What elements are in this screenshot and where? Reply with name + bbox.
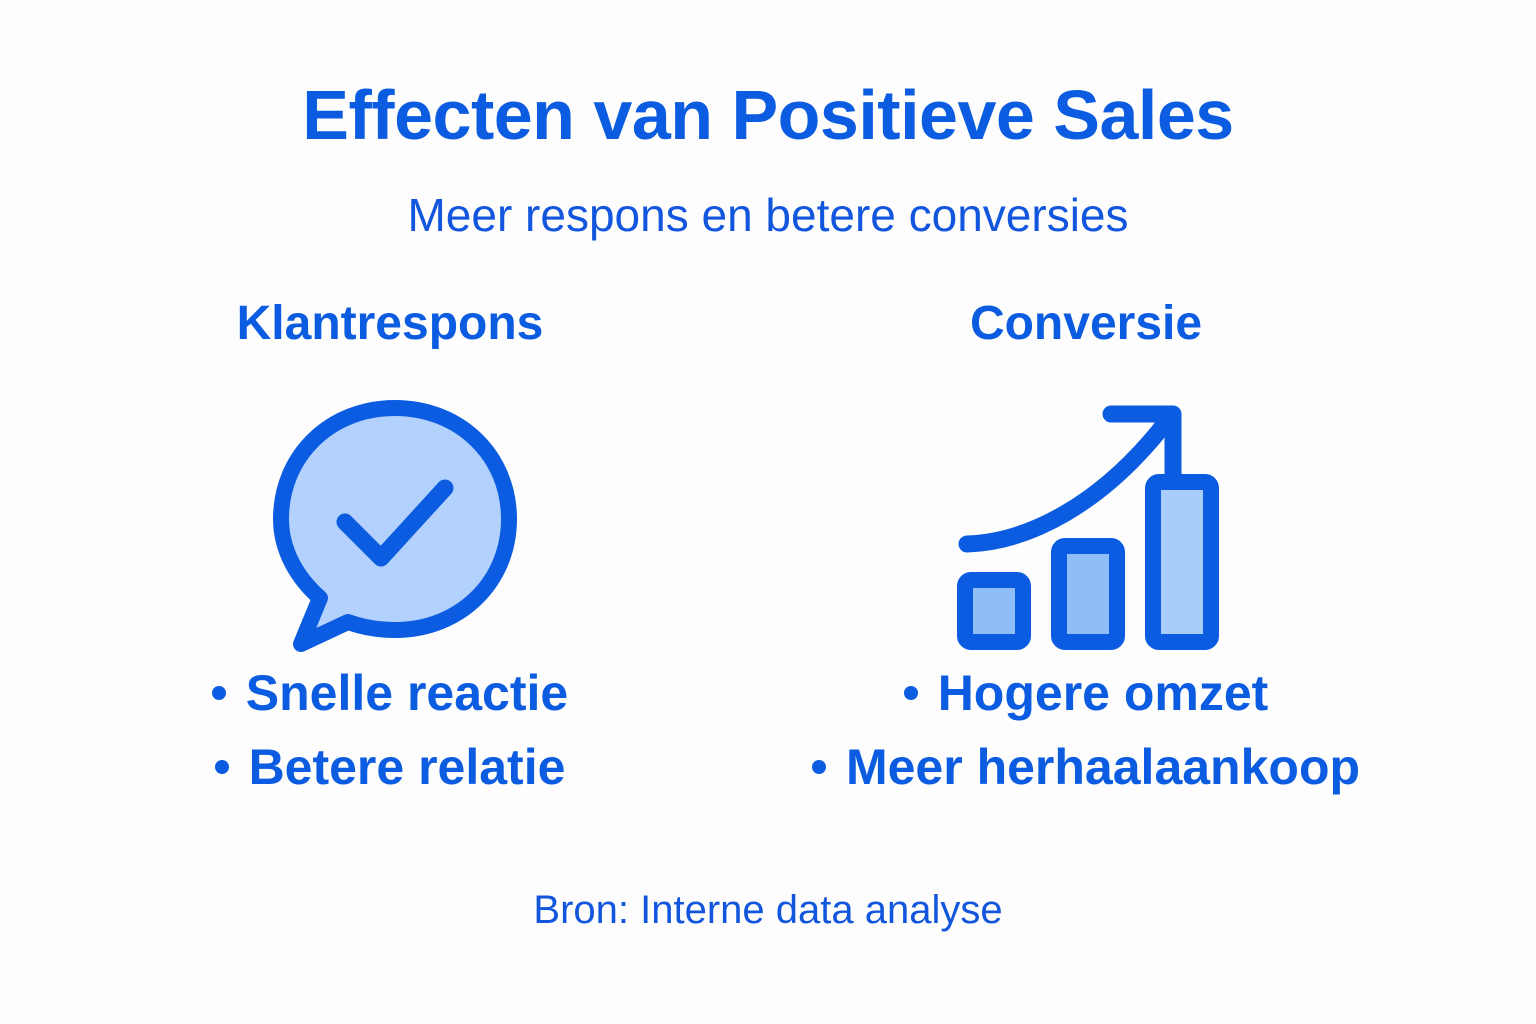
speech-bubble-check-icon	[259, 394, 521, 656]
bullet-dot-icon	[215, 760, 229, 774]
page-title: Effecten van Positieve Sales	[0, 80, 1536, 150]
list-item: Meer herhaalaankoop	[756, 730, 1416, 804]
infographic-canvas: Effecten van Positieve Sales Meer respon…	[0, 0, 1536, 1024]
bullet-dot-icon	[812, 760, 826, 774]
column-klantrespons: Klantrespons Snelle reactie Betere relat…	[60, 300, 720, 804]
bar-large	[1153, 482, 1211, 642]
icon-container-right	[756, 366, 1416, 656]
bullet-label: Hogere omzet	[938, 665, 1269, 721]
icon-container-left	[60, 366, 720, 656]
column-heading-right: Conversie	[756, 300, 1416, 360]
bar-small	[965, 580, 1023, 642]
source-caption: Bron: Interne data analyse	[0, 888, 1536, 933]
bullet-dot-icon	[904, 686, 918, 700]
bullet-label: Betere relatie	[249, 739, 566, 795]
list-item: Snelle reactie	[60, 656, 720, 730]
column-conversie: Conversie Hogere omzet Meer herhaalaanko…	[756, 300, 1416, 804]
bar-medium	[1059, 546, 1117, 642]
column-heading-left: Klantrespons	[60, 300, 720, 360]
bullet-label: Snelle reactie	[246, 665, 568, 721]
bullet-label: Meer herhaalaankoop	[846, 739, 1360, 795]
bullet-list-left: Snelle reactie Betere relatie	[60, 656, 720, 804]
list-item: Betere relatie	[60, 730, 720, 804]
bullet-list-right: Hogere omzet Meer herhaalaankoop	[756, 656, 1416, 804]
growth-bar-chart-arrow-icon	[951, 394, 1221, 656]
list-item: Hogere omzet	[756, 656, 1416, 730]
bullet-dot-icon	[212, 686, 226, 700]
page-subtitle: Meer respons en betere conversies	[0, 192, 1536, 238]
trend-arrow-curve	[967, 426, 1163, 544]
